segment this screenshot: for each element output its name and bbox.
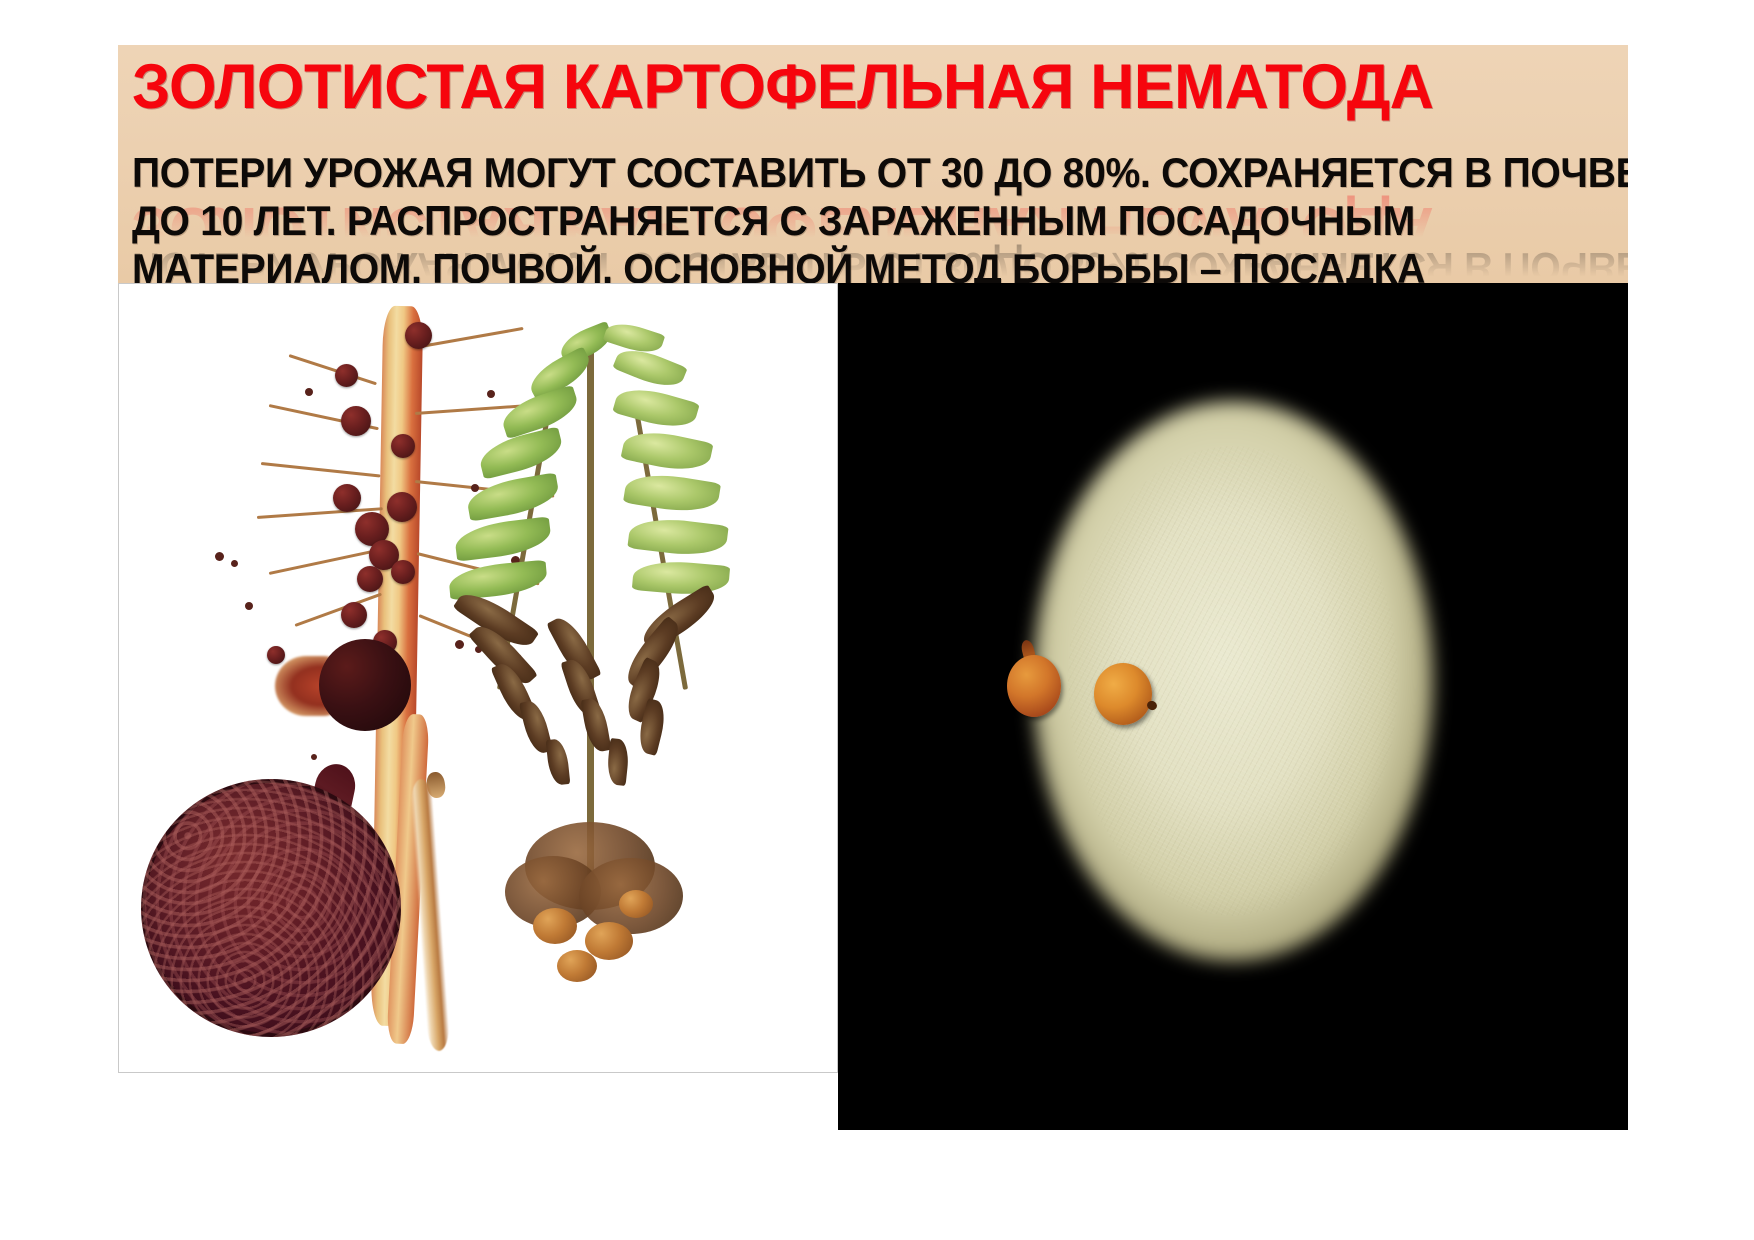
root-cyst (341, 406, 371, 436)
rootlet (261, 462, 381, 478)
microscope-photo-golden-cysts (838, 283, 1628, 1130)
potato-tuber (619, 890, 653, 918)
cyst-eggs-texture (141, 779, 401, 1037)
wilted-leaf (580, 697, 611, 754)
leaf (627, 514, 728, 560)
leaf (465, 472, 562, 521)
leaf (620, 425, 713, 477)
root-cyst (341, 602, 367, 628)
page-title: ЗОЛОТИСТАЯ КАРТОФЕЛЬНАЯ НЕМАТОДА (132, 51, 1433, 123)
rootlet (294, 593, 381, 627)
potato-tuber (533, 908, 577, 944)
cyst-cross-section-with-eggs (141, 779, 401, 1037)
infected-potato-plant (409, 324, 809, 1044)
potato-tuber (557, 950, 597, 982)
cyst-speck (305, 388, 313, 396)
leaf (632, 558, 730, 598)
golden-cyst-right (1094, 663, 1152, 725)
golden-cyst-left (1007, 655, 1061, 717)
slide-root: ЗОЛОТИСТАЯ КАРТОФЕЛЬНАЯ НЕМАТОДА ЗОЛОТИС… (0, 0, 1754, 1240)
leaf (612, 381, 700, 434)
body-line-2: МАТЕРИАЛОМ, ПОЧВОЙ. ОСНОВНОЙ МЕТОД БОРЬБ… (132, 245, 1425, 283)
illustration-nematode-lifecycle (118, 283, 838, 1073)
wilted-leaf (606, 738, 631, 786)
cyst-speck (311, 754, 317, 760)
nematode-cyst-detail (319, 639, 411, 731)
root-cyst (357, 566, 383, 592)
root-cyst (333, 484, 361, 512)
header-banner: ЗОЛОТИСТАЯ КАРТОФЕЛЬНАЯ НЕМАТОДА ЗОЛОТИС… (118, 45, 1628, 283)
root-cyst (335, 364, 358, 387)
body-line-0: ПОТЕРИ УРОЖАЯ МОГУТ СОСТАВИТЬ ОТ 30 ДО 8… (132, 149, 1628, 197)
body-line-1: ДО 10 ЛЕТ. РАСПРОСТРАНЯЕТСЯ С ЗАРАЖЕННЫМ… (132, 197, 1415, 245)
root-cyst (267, 646, 285, 664)
plant-stem (587, 334, 594, 894)
potato-tuber (585, 922, 633, 960)
cyst-speck (215, 552, 224, 561)
leaf (453, 516, 552, 561)
wilted-leaf (546, 738, 571, 786)
cyst-speck (231, 560, 238, 567)
cyst-speck (245, 602, 253, 610)
leaf (623, 469, 721, 517)
leaf (476, 426, 566, 479)
rootlet (289, 354, 377, 385)
